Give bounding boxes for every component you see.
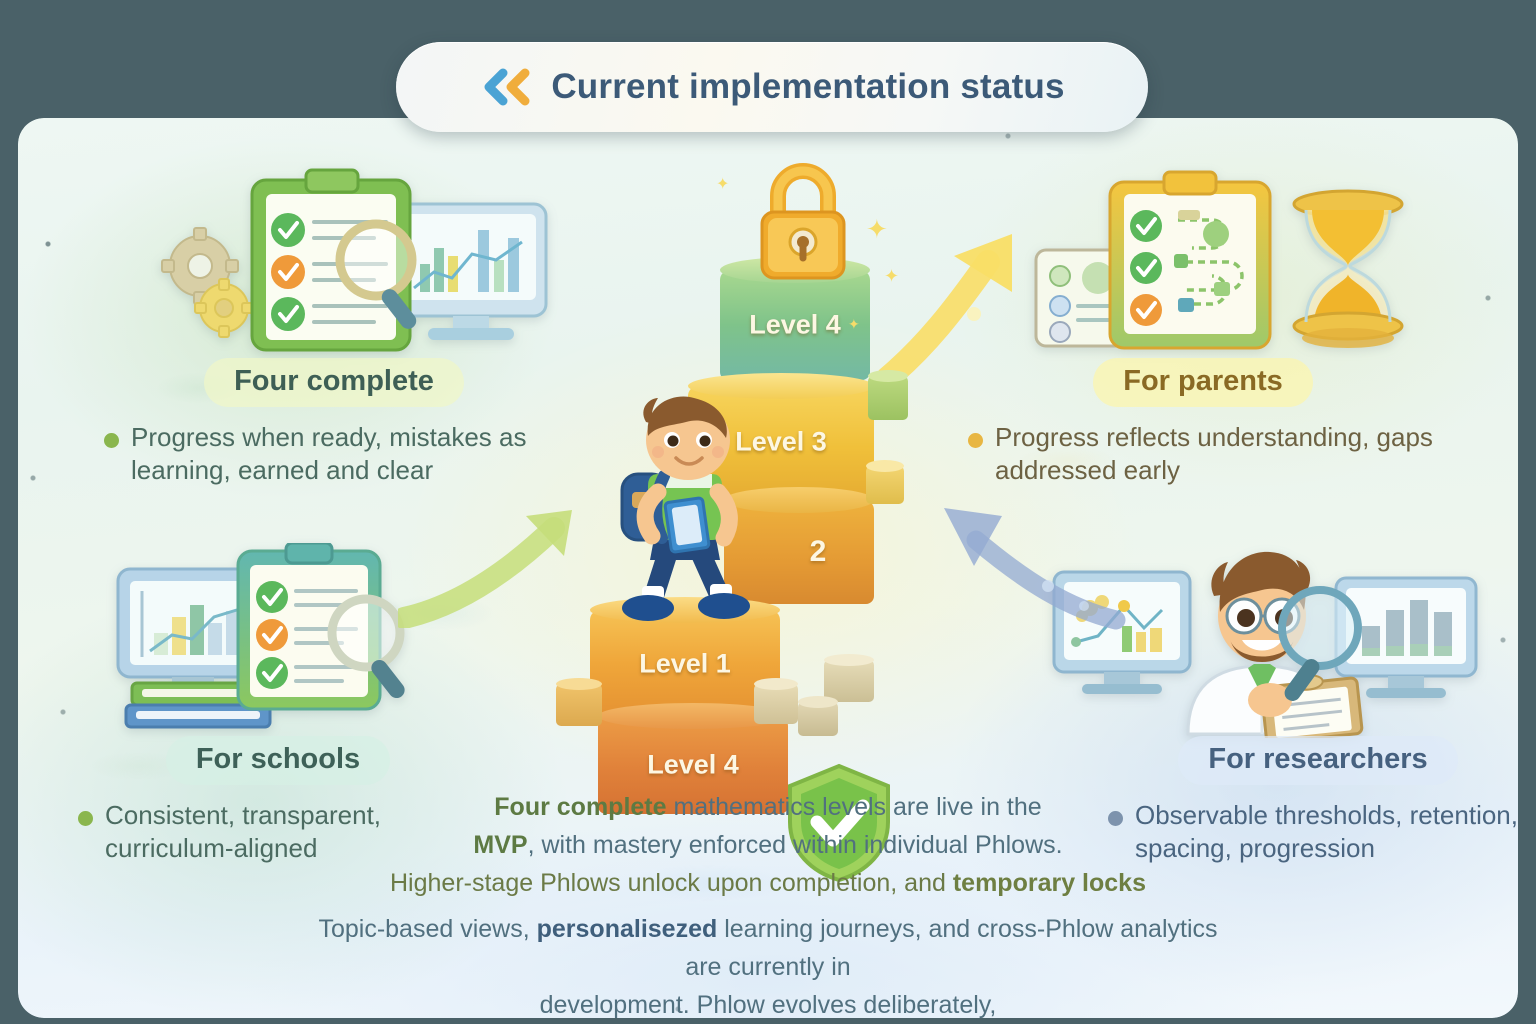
- heading-for-schools: For schools: [166, 736, 390, 785]
- paragraph-line-1-rest: mathematics levels are live in the: [667, 793, 1042, 821]
- page-title: Current implementation status: [551, 67, 1064, 107]
- step-label-4: Level 4: [598, 750, 788, 781]
- staircase-step-level1: Level 1: [590, 610, 780, 718]
- paragraph-line-4: Topic-based views, personalisezed learni…: [300, 910, 1236, 986]
- bullet-text: Progress when ready, mistakes as learnin…: [131, 421, 564, 488]
- paragraph-emphasis-temporary-locks: temporary locks: [953, 869, 1146, 897]
- slide-canvas: Level 4 Level 3 2 Level 1 Level 4: [0, 0, 1536, 1024]
- bullet-four-complete: Progress when ready, mistakes as learnin…: [104, 421, 564, 488]
- heading-for-parents: For parents: [1093, 358, 1313, 407]
- floating-cube: [866, 466, 904, 504]
- bullet-dot-icon: [78, 811, 93, 826]
- bullet-text: Progress reflects understanding, gaps ad…: [995, 421, 1438, 488]
- floating-cube: [868, 376, 908, 420]
- title-banner: Current implementation status: [396, 42, 1148, 132]
- bullet-dot-icon: [104, 433, 119, 448]
- paragraph-line-2-rest: , with mastery enforced within individua…: [528, 831, 1063, 859]
- paragraph-line-1: Four complete mathematics levels are liv…: [300, 788, 1236, 826]
- student-boy-with-backpack-illustration: [596, 396, 776, 624]
- quadrant-for-parents: For parents Progress reflects understand…: [968, 358, 1438, 488]
- step-label-3: Level 1: [590, 649, 780, 680]
- bullet-dot-icon: [968, 433, 983, 448]
- sparkle-icon: ✦: [848, 316, 860, 333]
- bullet-for-parents: Progress reflects understanding, gaps ad…: [968, 421, 1438, 488]
- step-label-2: 2: [788, 535, 848, 569]
- paragraph-line-4-b: learning journeys, and cross-Phlow analy…: [685, 915, 1217, 981]
- floating-cube: [824, 660, 874, 702]
- double-chevron-left-icon: [479, 67, 533, 107]
- level-staircase: Level 4 Level 3 2 Level 1 Level 4: [548, 148, 968, 828]
- paragraph-line-3-a: Higher-stage Phlows unlock upon completi…: [390, 869, 953, 897]
- paragraph-emphasis-four-complete: Four complete: [494, 793, 666, 821]
- paragraph-line-5: development. Phlow evolves deliberately,: [300, 986, 1236, 1024]
- floating-cube: [798, 702, 838, 736]
- paragraph-line-4-a: Topic-based views,: [318, 915, 536, 943]
- quadrant-four-complete: Four complete Progress when ready, mista…: [104, 358, 564, 488]
- heading-for-researchers: For researchers: [1178, 736, 1457, 785]
- gold-clipboard-flow-hourglass-illustration: [1018, 166, 1428, 358]
- sparkle-icon: ✦: [716, 174, 729, 194]
- paragraph-emphasis-personalisezed: personalisezed: [537, 915, 718, 943]
- padlock-icon: [748, 156, 858, 286]
- floating-cube: [556, 684, 602, 726]
- floating-cube: [754, 684, 798, 724]
- summary-paragraph: Four complete mathematics levels are liv…: [300, 788, 1236, 1024]
- paragraph-line-3: Higher-stage Phlows unlock upon completi…: [300, 864, 1236, 902]
- sparkle-icon: ✦: [866, 214, 888, 245]
- paragraph-emphasis-mvp: MVP: [473, 831, 527, 859]
- sparkle-icon: ✦: [884, 266, 899, 287]
- paragraph-line-2: MVP, with mastery enforced within indivi…: [300, 826, 1236, 864]
- clipboard-checks-gears-magnifier-chart-monitor-illustration: [148, 168, 548, 358]
- heading-four-complete: Four complete: [204, 358, 464, 407]
